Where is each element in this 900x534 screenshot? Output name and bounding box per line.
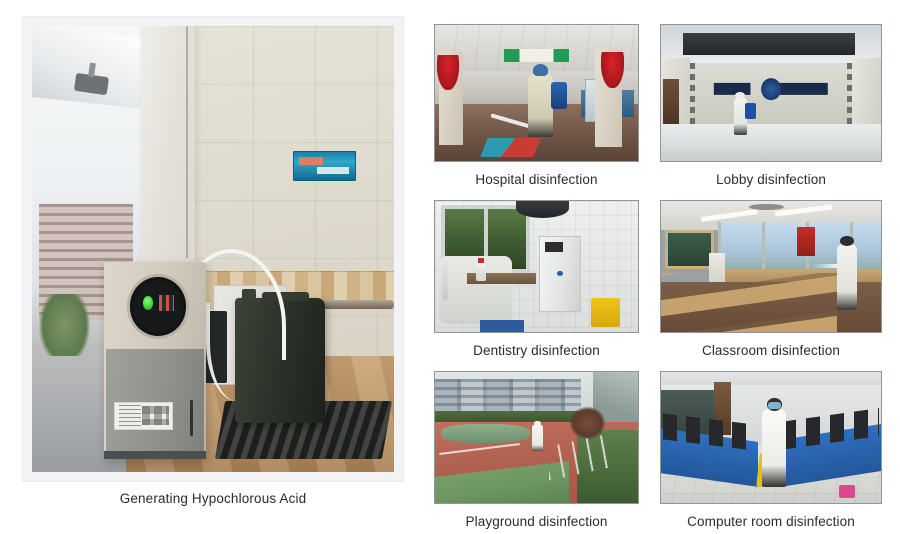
hospital-banner-sign — [504, 49, 569, 61]
dentistry-disinfection-photo[interactable] — [434, 200, 639, 333]
wall-sign — [293, 151, 357, 181]
lobby-scene — [661, 25, 881, 161]
lobby-vertical-banner-left — [690, 63, 696, 124]
face-mask-icon — [768, 402, 781, 409]
control-display-screen — [139, 290, 178, 316]
hospital-disinfection-photo[interactable] — [434, 24, 639, 162]
disinfection-worker — [532, 424, 542, 450]
instruction-label — [114, 402, 172, 431]
gallery-item-lobby: Lobby disinfection — [660, 24, 882, 188]
hospital-disinfection-caption: Hospital disinfection — [434, 162, 639, 188]
page-root: Generating Hypochlorous Acid — [0, 0, 900, 534]
backpack-sprayer — [745, 103, 756, 119]
lobby-emblem-icon — [761, 78, 781, 100]
red-lantern-right-icon — [601, 52, 623, 87]
computer-room-disinfection-photo[interactable] — [660, 371, 882, 504]
bottle — [476, 263, 486, 281]
classroom-disinfection-photo[interactable] — [660, 200, 882, 333]
lobby-side-wall-right — [852, 58, 881, 129]
computer-room-disinfection-caption: Computer room disinfection — [660, 504, 882, 530]
blue-cloth — [480, 320, 525, 332]
backpack-sprayer — [551, 82, 567, 109]
dentistry-scene — [435, 201, 638, 332]
hospital-floor-sign — [480, 138, 540, 157]
instruction-label-icons — [142, 406, 169, 425]
generator-scene — [32, 26, 394, 472]
lobby-disinfection-caption: Lobby disinfection — [660, 162, 882, 188]
gallery-item-hospital: Hospital disinfection — [434, 24, 639, 188]
disinfection-cabinet — [539, 236, 582, 311]
cabinet-display-panel — [545, 242, 563, 252]
gallery-item-classroom: Classroom disinfection — [660, 200, 882, 359]
control-display-bezel — [127, 274, 190, 339]
gallery-item-computer-room: Computer room disinfection — [660, 371, 882, 530]
dentistry-disinfection-caption: Dentistry disinfection — [434, 333, 639, 359]
gallery-item-playground: Playground disinfection — [434, 371, 639, 530]
pink-container — [839, 485, 854, 498]
chalkboard — [665, 230, 713, 269]
playground-scene — [435, 372, 638, 503]
playground-disinfection-photo[interactable] — [434, 371, 639, 504]
dental-chair-arm — [442, 261, 448, 301]
disinfection-worker — [837, 244, 857, 310]
feature-photo-frame[interactable] — [22, 16, 404, 482]
machine-lower-panel — [106, 349, 203, 451]
tree — [39, 294, 90, 365]
gallery-item-dentistry: Dentistry disinfection — [434, 200, 639, 359]
machine-base — [104, 451, 205, 459]
lobby-disinfection-photo[interactable] — [660, 24, 882, 162]
gallery-grid: Hospital disinfection — [434, 24, 882, 530]
classroom-desks — [661, 273, 837, 332]
classroom-scene — [661, 201, 881, 332]
playground-disinfection-caption: Playground disinfection — [434, 504, 639, 530]
machine-vent-slot — [190, 400, 193, 437]
lobby-door — [663, 79, 678, 125]
lobby-vertical-banner-right — [847, 63, 853, 124]
lobby-floor — [661, 124, 881, 161]
feature-caption: Generating Hypochlorous Acid — [22, 490, 404, 508]
lobby-balcony-band — [683, 33, 855, 55]
disinfection-worker — [528, 74, 552, 137]
pillar-seam — [186, 26, 188, 258]
cabinet-button-icon — [557, 271, 563, 276]
hospital-scene — [435, 25, 638, 161]
generator-machine-photo[interactable] — [32, 26, 394, 472]
instruction-label-text — [119, 405, 142, 425]
classroom-disinfection-caption: Classroom disinfection — [660, 333, 882, 359]
computer-room-scene — [661, 372, 881, 503]
red-lantern-left-icon — [437, 55, 459, 90]
screen-readout-bars — [159, 295, 174, 311]
spray-mist — [811, 264, 837, 268]
status-indicator-green — [143, 296, 154, 310]
yellow-waste-bin — [591, 298, 619, 327]
track-infield — [441, 424, 530, 442]
hypochlorous-generator-unit — [104, 262, 205, 458]
feature-panel: Generating Hypochlorous Acid — [22, 16, 404, 520]
ceiling-fan-icon — [749, 204, 784, 211]
wall-poster — [797, 227, 815, 256]
disinfection-worker — [762, 409, 786, 488]
